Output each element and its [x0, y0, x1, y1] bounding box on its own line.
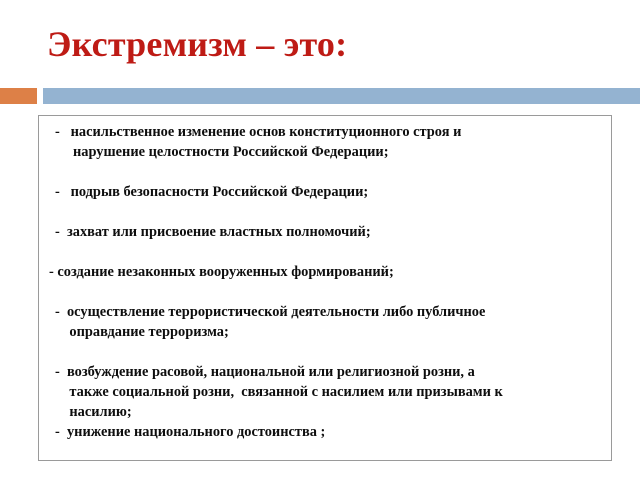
list-item: - подрыв безопасности Российской Федерац…: [47, 182, 603, 202]
decorative-bar-blue: [43, 88, 640, 104]
content-box: - насильственное изменение основ констит…: [38, 115, 612, 461]
list-item: - создание незаконных вооруженных формир…: [47, 262, 603, 282]
list-item: - захват или присвоение властных полномо…: [47, 222, 603, 242]
decorative-bar-orange: [0, 88, 37, 104]
list-item: - насильственное изменение основ констит…: [47, 122, 603, 162]
list-item: - унижение национального достоинства ;: [47, 422, 603, 442]
bullet-list: - насильственное изменение основ констит…: [47, 122, 603, 442]
list-item: - осуществление террористической деятель…: [47, 302, 603, 342]
slide-canvas: Экстремизм – это: - насильственное измен…: [0, 0, 640, 480]
list-item: - возбуждение расовой, национальной или …: [47, 362, 603, 422]
page-title: Экстремизм – это:: [47, 22, 347, 66]
title-area: Экстремизм – это:: [0, 22, 640, 82]
